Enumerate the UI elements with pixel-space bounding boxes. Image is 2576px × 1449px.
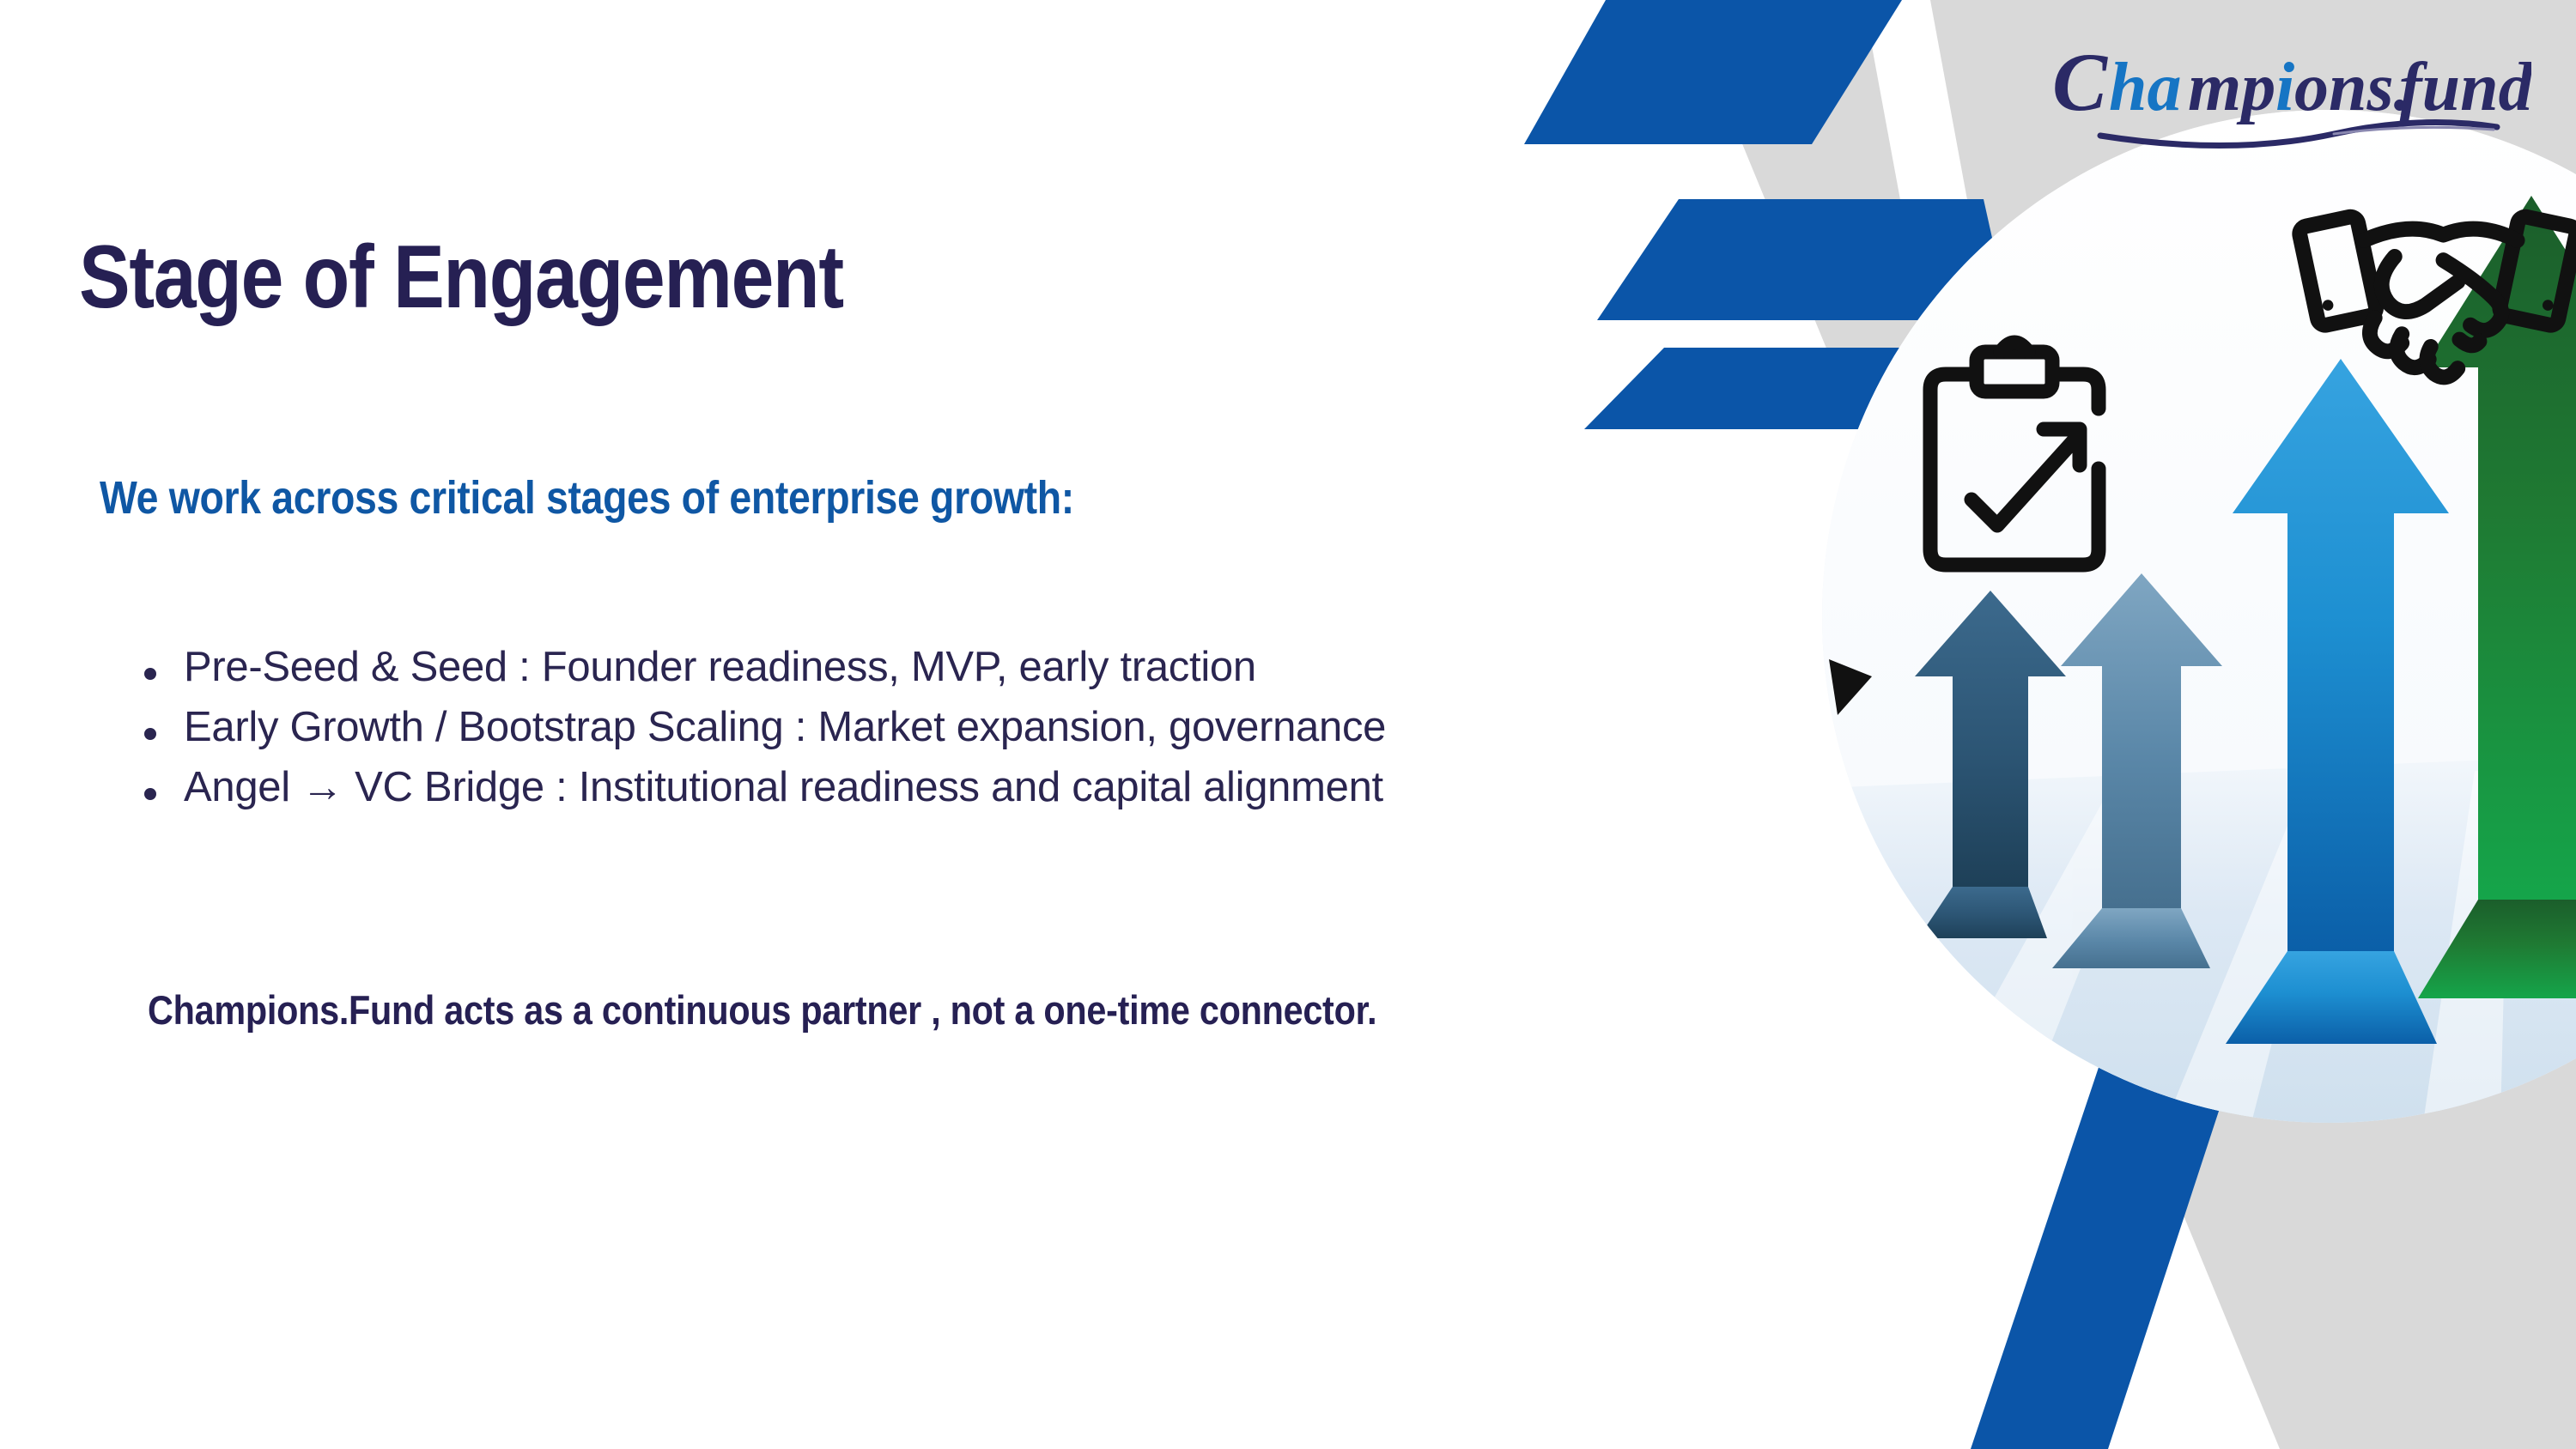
logo-letters-mp: mp (2188, 50, 2275, 125)
logo-letter-c: C (2052, 36, 2108, 128)
logo-letters-fund: fund (2399, 50, 2531, 125)
closing-statement: Champions.Fund acts as a continuous part… (148, 985, 1448, 1034)
text-content: Stage of Engagement We work across criti… (0, 0, 1846, 1449)
list-item: Pre-Seed & Seed : Founder readiness, MVP… (136, 646, 1386, 689)
section-subtitle: We work across critical stages of enterp… (100, 474, 1074, 523)
logo-swoosh (2100, 123, 2497, 146)
slide: C ha mp i ons. fund Stage of Engagement … (0, 0, 2576, 1449)
logo-letters-ha: ha (2109, 50, 2182, 125)
list-item: Early Growth / Bootstrap Scaling : Marke… (136, 706, 1386, 749)
list-item: Angel → VC Bridge : Institutional readin… (136, 766, 1386, 809)
page-title: Stage of Engagement (79, 232, 843, 323)
stages-bullet-list: Pre-Seed & Seed : Founder readiness, MVP… (136, 646, 1386, 826)
logo-letter-i: i (2275, 50, 2294, 125)
champions-fund-logo[interactable]: C ha mp i ons. fund (2050, 26, 2531, 155)
logo-letters-ons: ons. (2294, 50, 2411, 125)
